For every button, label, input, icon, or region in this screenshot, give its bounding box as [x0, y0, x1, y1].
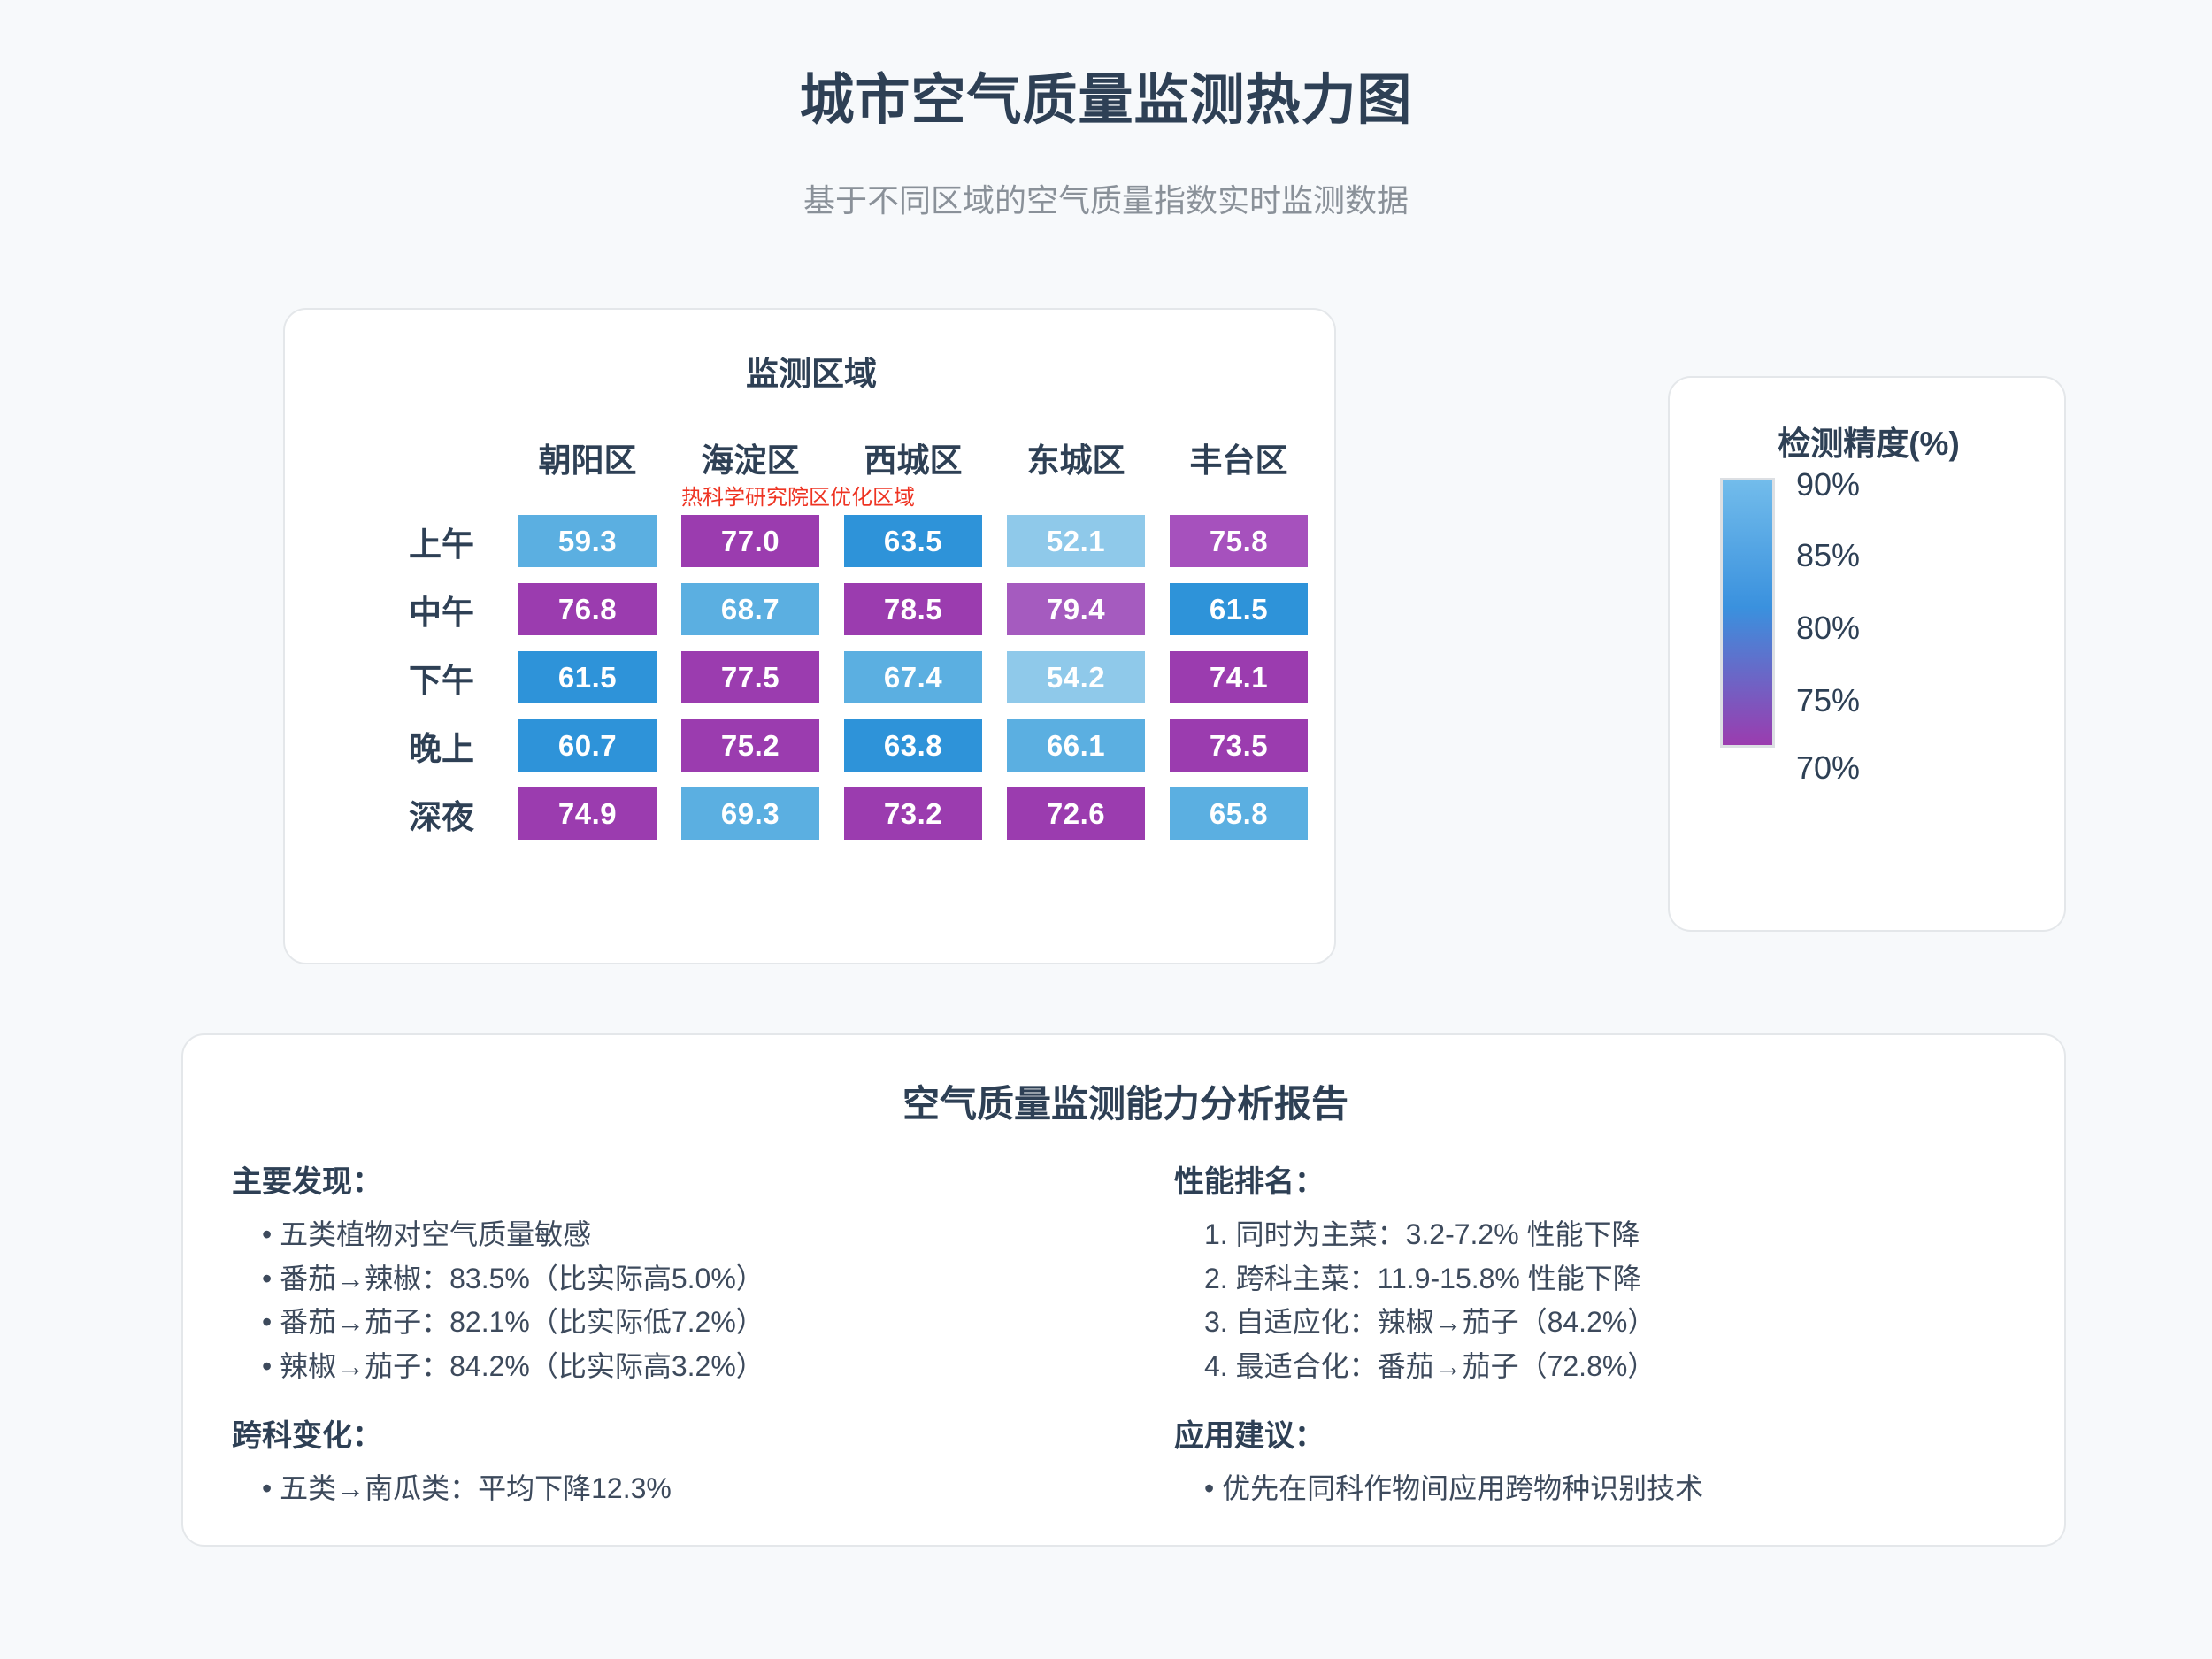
legend-title: 检测精度(%): [1670, 417, 2068, 465]
heatmap-cell-slot: 72.6: [995, 787, 1157, 840]
heatmap-cell[interactable]: 66.1: [1007, 719, 1145, 772]
heatmap-cell-slot: 77.0: [669, 515, 832, 567]
heatmap-cell[interactable]: 68.7: [681, 583, 819, 635]
heatmap-column-headers: 朝阳区海淀区西城区东城区丰台区: [506, 434, 1320, 481]
heatmap-cell-slot: 61.5: [1157, 583, 1320, 635]
heatmap-row-label: 上午: [285, 518, 506, 565]
heatmap-row: 下午61.577.567.454.274.1: [285, 651, 1338, 703]
heatmap-cell[interactable]: 76.8: [518, 583, 657, 635]
heatmap-cell[interactable]: 69.3: [681, 787, 819, 840]
heatmap-cell[interactable]: 74.1: [1170, 651, 1308, 703]
heatmap-row-label: 深夜: [285, 790, 506, 838]
report-list-item: 4. 最适合化：番茄→茄子（72.8%）: [1174, 1345, 2068, 1389]
heatmap-col-header: 朝阳区: [506, 434, 669, 481]
heatmap-row-cells: 61.577.567.454.274.1: [506, 651, 1320, 703]
heatmap-cell[interactable]: 61.5: [1170, 583, 1308, 635]
heatmap-row-label: 晚上: [285, 722, 506, 770]
report-list-item: • 优先在同科作物间应用跨物种识别技术: [1174, 1467, 2068, 1511]
report-section-heading: 跨科变化：: [232, 1411, 1125, 1455]
heatmap-row-cells: 76.868.778.579.461.5: [506, 583, 1320, 635]
heatmap-cell[interactable]: 75.2: [681, 719, 819, 772]
heatmap-cell-slot: 67.4: [832, 651, 995, 703]
heatmap-cell-slot: 52.1: [995, 515, 1157, 567]
heatmap-col-header: 东城区: [995, 434, 1157, 481]
heatmap-row: 晚上60.775.263.866.173.5: [285, 719, 1338, 772]
colorbar-tick: 85%: [1796, 537, 1860, 574]
report-section-list: • 五类→南瓜类：平均下降12.3%: [232, 1467, 1125, 1511]
heatmap-card: 监测区域 朝阳区海淀区西城区东城区丰台区 热科学研究院区优化区域 上午59.37…: [283, 308, 1336, 964]
heatmap-row-label: 中午: [285, 586, 506, 634]
heatmap-row: 中午76.868.778.579.461.5: [285, 583, 1338, 635]
report-section-list: • 五类植物对空气质量敏感• 番茄→辣椒：83.5%（比实际高5.0%）• 番茄…: [232, 1213, 1125, 1388]
heatmap-cell[interactable]: 77.5: [681, 651, 819, 703]
heatmap-cell-slot: 76.8: [506, 583, 669, 635]
heatmap-cell[interactable]: 75.8: [1170, 515, 1308, 567]
heatmap-cell[interactable]: 54.2: [1007, 651, 1145, 703]
report-card: 空气质量监测能力分析报告 主要发现：• 五类植物对空气质量敏感• 番茄→辣椒：8…: [181, 1033, 2066, 1547]
colorbar-tick: 80%: [1796, 610, 1860, 647]
heatmap-cell-slot: 79.4: [995, 583, 1157, 635]
report-list-item: • 辣椒→茄子：84.2%（比实际高3.2%）: [232, 1345, 1125, 1389]
heatmap-cell-slot: 75.8: [1157, 515, 1320, 567]
colorbar-tick: 90%: [1796, 466, 1860, 503]
report-section-heading: 主要发现：: [232, 1157, 1125, 1201]
colorbar-tick: 75%: [1796, 682, 1860, 719]
heatmap-cell[interactable]: 79.4: [1007, 583, 1145, 635]
colorbar-tick-labels: 90%85%80%75%70%: [1796, 466, 2008, 767]
heatmap-cell[interactable]: 60.7: [518, 719, 657, 772]
heatmap-row-label: 下午: [285, 654, 506, 702]
heatmap-cell-slot: 74.9: [506, 787, 669, 840]
report-columns: 主要发现：• 五类植物对空气质量敏感• 番茄→辣椒：83.5%（比实际高5.0%…: [183, 1157, 2068, 1534]
heatmap-cell-slot: 63.5: [832, 515, 995, 567]
heatmap-col-header: 丰台区: [1157, 434, 1320, 481]
report-list-item: • 番茄→辣椒：83.5%（比实际高5.0%）: [232, 1257, 1125, 1302]
page-title: 城市空气质量监测热力图: [0, 55, 2212, 134]
heatmap-row: 深夜74.969.373.272.665.8: [285, 787, 1338, 840]
heatmap-cell[interactable]: 63.8: [844, 719, 982, 772]
heatmap-cell[interactable]: 78.5: [844, 583, 982, 635]
heatmap-cell-slot: 61.5: [506, 651, 669, 703]
heatmap-cell-slot: 66.1: [995, 719, 1157, 772]
report-section-list: 1. 同时为主菜：3.2-7.2% 性能下降2. 跨科主菜：11.9-15.8%…: [1174, 1213, 2068, 1388]
report-section-heading: 性能排名：: [1174, 1157, 2068, 1201]
page-subtitle: 基于不同区域的空气质量指数实时监测数据: [0, 175, 2212, 221]
report-list-item: • 番茄→茄子：82.1%（比实际低7.2%）: [232, 1301, 1125, 1345]
heatmap-cell[interactable]: 72.6: [1007, 787, 1145, 840]
report-list-item: • 五类植物对空气质量敏感: [232, 1213, 1125, 1257]
heatmap-cell-slot: 65.8: [1157, 787, 1320, 840]
heatmap-cell-slot: 63.8: [832, 719, 995, 772]
heatmap-row-cells: 59.377.063.552.175.8: [506, 515, 1320, 567]
heatmap-cell[interactable]: 67.4: [844, 651, 982, 703]
heatmap-cell-slot: 75.2: [669, 719, 832, 772]
heatmap-cell-slot: 68.7: [669, 583, 832, 635]
heatmap-cell[interactable]: 61.5: [518, 651, 657, 703]
colorbar-tick: 70%: [1796, 749, 1860, 787]
heatmap-cell-slot: 73.5: [1157, 719, 1320, 772]
heatmap-cell[interactable]: 74.9: [518, 787, 657, 840]
heatmap-cell[interactable]: 59.3: [518, 515, 657, 567]
report-list-item: 1. 同时为主菜：3.2-7.2% 性能下降: [1174, 1213, 2068, 1257]
heatmap-cell[interactable]: 73.2: [844, 787, 982, 840]
heatmap-rows: 上午59.377.063.552.175.8中午76.868.778.579.4…: [285, 515, 1338, 856]
colorbar-gradient: [1720, 478, 1775, 748]
heatmap-row-cells: 60.775.263.866.173.5: [506, 719, 1320, 772]
heatmap-cell[interactable]: 63.5: [844, 515, 982, 567]
heatmap-cell-slot: 74.1: [1157, 651, 1320, 703]
heatmap-cell[interactable]: 52.1: [1007, 515, 1145, 567]
report-title: 空气质量监测能力分析报告: [183, 1074, 2068, 1128]
heatmap-cell-slot: 54.2: [995, 651, 1157, 703]
report-list-item: • 五类→南瓜类：平均下降12.3%: [232, 1467, 1125, 1511]
heatmap-cell-slot: 60.7: [506, 719, 669, 772]
page-root: 城市空气质量监测热力图 基于不同区域的空气质量指数实时监测数据 监测区域 朝阳区…: [0, 0, 2212, 1659]
heatmap-cell-slot: 77.5: [669, 651, 832, 703]
heatmap-cell-slot: 78.5: [832, 583, 995, 635]
heatmap-cell-slot: 69.3: [669, 787, 832, 840]
heatmap-col-header: 海淀区: [669, 434, 832, 481]
heatmap-row-cells: 74.969.373.272.665.8: [506, 787, 1320, 840]
heatmap-cell-slot: 73.2: [832, 787, 995, 840]
heatmap-cell-slot: 59.3: [506, 515, 669, 567]
report-list-item: 2. 跨科主菜：11.9-15.8% 性能下降: [1174, 1257, 2068, 1302]
heatmap-col-header: 西城区: [832, 434, 995, 481]
report-left-column: 主要发现：• 五类植物对空气质量敏感• 番茄→辣椒：83.5%（比实际高5.0%…: [183, 1157, 1125, 1534]
heatmap-cell[interactable]: 77.0: [681, 515, 819, 567]
heatmap-cell[interactable]: 73.5: [1170, 719, 1308, 772]
report-section-list: • 优先在同科作物间应用跨物种识别技术: [1174, 1467, 2068, 1511]
report-list-item: 3. 自适应化：辣椒→茄子（84.2%）: [1174, 1301, 2068, 1345]
report-section-heading: 应用建议：: [1174, 1411, 2068, 1455]
legend-card: 检测精度(%) 90%85%80%75%70%: [1668, 376, 2066, 932]
report-right-column: 性能排名：1. 同时为主菜：3.2-7.2% 性能下降2. 跨科主菜：11.9-…: [1125, 1157, 2068, 1534]
heatmap-row: 上午59.377.063.552.175.8: [285, 515, 1338, 567]
heatmap-annotation: 热科学研究院区优化区域: [506, 480, 1090, 511]
heatmap-cell[interactable]: 65.8: [1170, 787, 1308, 840]
heatmap-grid: 朝阳区海淀区西城区东城区丰台区 热科学研究院区优化区域 上午59.377.063…: [285, 310, 1338, 966]
